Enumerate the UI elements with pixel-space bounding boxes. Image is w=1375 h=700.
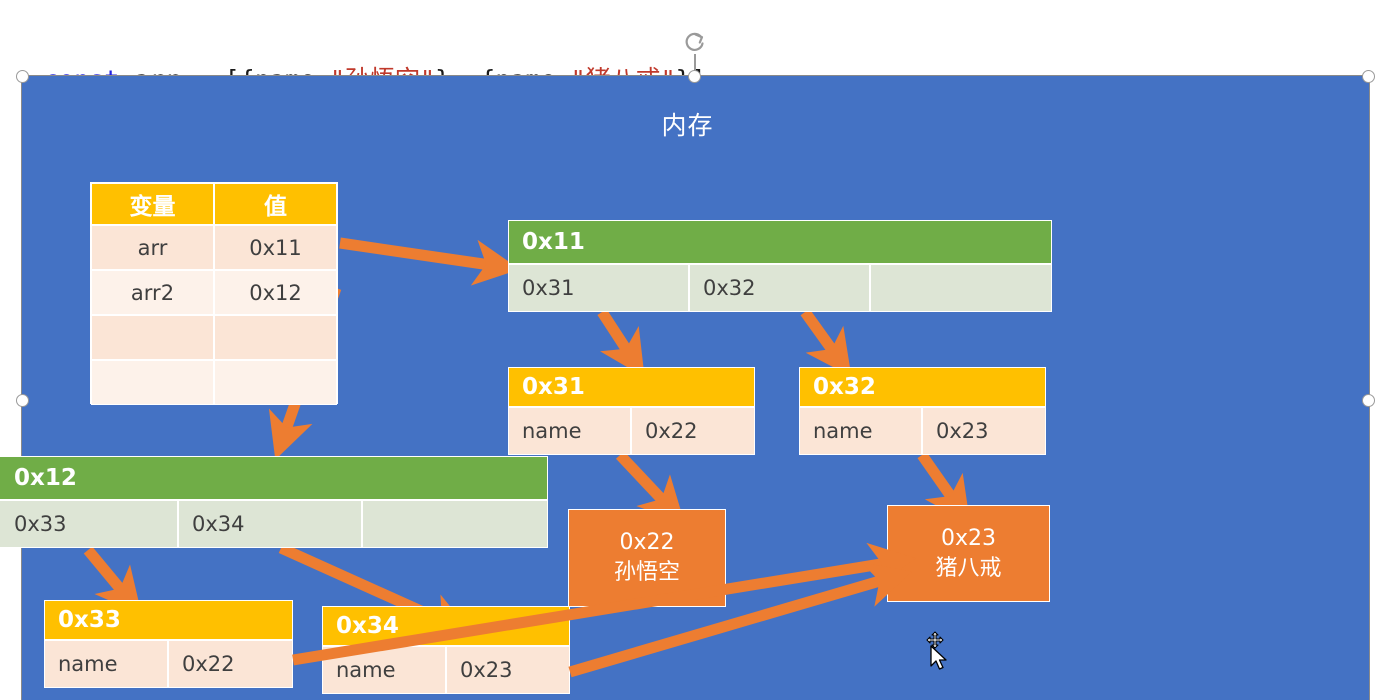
value-box-0x22[interactable]: 0x22 孙悟空 [568, 509, 726, 607]
table-row[interactable] [91, 315, 337, 360]
variable-cell-value-1: 0x12 [214, 270, 337, 315]
object-0x33-value[interactable]: 0x22 [169, 641, 292, 687]
variable-table-header-value: 值 [214, 183, 337, 225]
variable-cell-name-1: arr2 [91, 270, 214, 315]
table-row[interactable]: arr2 0x12 [91, 270, 337, 315]
object-0x31-cells: name 0x22 [509, 408, 754, 454]
object-0x33-key: name [45, 641, 169, 687]
object-0x32-value[interactable]: 0x23 [923, 408, 1045, 454]
resize-handle-middle-left[interactable] [16, 394, 29, 407]
variable-cell-name-0: arr [91, 225, 214, 270]
variable-cell-name-2 [91, 315, 214, 360]
variable-cell-name-3 [91, 360, 214, 405]
variable-cell-value-0: 0x11 [214, 225, 337, 270]
table-row[interactable]: arr 0x11 [91, 225, 337, 270]
array-0x11-address: 0x11 [509, 221, 1051, 265]
array-0x11-cells: 0x31 0x32 [509, 265, 1051, 311]
object-0x31-address: 0x31 [509, 368, 754, 408]
object-box-0x34[interactable]: 0x34 name 0x23 [322, 606, 570, 694]
variable-table-header-row: 变量 值 [91, 183, 337, 225]
array-0x11-cell-2[interactable] [871, 265, 1051, 311]
object-box-0x33[interactable]: 0x33 name 0x22 [44, 600, 293, 688]
object-0x31-value[interactable]: 0x22 [632, 408, 754, 454]
variable-cell-value-3 [214, 360, 337, 405]
resize-handle-top-left[interactable] [16, 70, 29, 83]
variable-cell-value-2 [214, 315, 337, 360]
value-0x23-address: 0x23 [941, 524, 996, 554]
object-0x33-address: 0x33 [45, 601, 292, 641]
array-0x12-cells: 0x33 0x34 [0, 501, 547, 547]
value-0x23-text: 猪八戒 [935, 554, 1001, 584]
array-0x12-cell-2[interactable] [363, 501, 547, 547]
object-0x34-cells: name 0x23 [323, 647, 569, 693]
rotate-icon[interactable] [681, 30, 707, 60]
array-0x12-address: 0x12 [0, 457, 547, 501]
value-box-0x23[interactable]: 0x23 猪八戒 [887, 505, 1050, 602]
resize-handle-middle-right[interactable] [1362, 394, 1375, 407]
move-cursor [918, 630, 960, 678]
array-0x12-cell-1[interactable]: 0x34 [179, 501, 363, 547]
variable-table-header-name: 变量 [91, 183, 214, 225]
diagram-title: 内存 [0, 106, 1375, 142]
resize-handle-top-center[interactable] [688, 70, 701, 83]
array-box-0x11[interactable]: 0x11 0x31 0x32 [508, 220, 1052, 312]
value-0x22-address: 0x22 [619, 528, 674, 558]
array-0x12-cell-0[interactable]: 0x33 [0, 501, 179, 547]
array-0x11-cell-1[interactable]: 0x32 [690, 265, 871, 311]
object-box-0x32[interactable]: 0x32 name 0x23 [799, 367, 1046, 455]
object-0x33-cells: name 0x22 [45, 641, 292, 687]
table-row[interactable] [91, 360, 337, 405]
object-box-0x31[interactable]: 0x31 name 0x22 [508, 367, 755, 455]
object-0x32-key: name [800, 408, 923, 454]
array-box-0x12[interactable]: 0x12 0x33 0x34 [0, 456, 548, 548]
object-0x31-key: name [509, 408, 632, 454]
object-0x34-key: name [323, 647, 447, 693]
object-0x32-cells: name 0x23 [800, 408, 1045, 454]
resize-handle-top-right[interactable] [1362, 70, 1375, 83]
variable-table: 变量 值 arr 0x11 arr2 0x12 [90, 182, 338, 404]
object-0x34-value[interactable]: 0x23 [447, 647, 569, 693]
object-0x34-address: 0x34 [323, 607, 569, 647]
array-0x11-cell-0[interactable]: 0x31 [509, 265, 690, 311]
object-0x32-address: 0x32 [800, 368, 1045, 408]
slide-canvas: const arr = [{name:"孙悟空"}, {name:"猪八戒"}]… [0, 0, 1375, 700]
value-0x22-text: 孙悟空 [614, 558, 680, 588]
